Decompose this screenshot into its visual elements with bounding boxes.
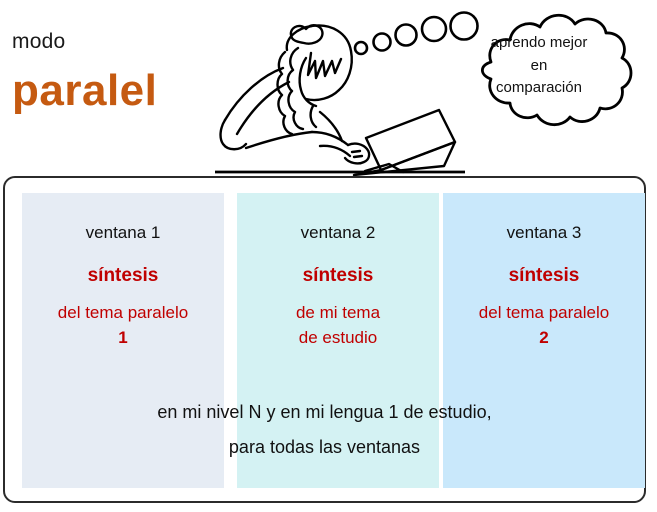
- window-column-1-desc-line-2: 1: [28, 326, 218, 351]
- window-column-2: ventana 2 síntesis de mi tema de estudio: [237, 193, 439, 488]
- page-title-small: modo: [12, 30, 65, 54]
- window-column-1: ventana 1 síntesis del tema paralelo 1: [22, 193, 224, 488]
- window-column-2-desc-line-2: de estudio: [243, 326, 433, 351]
- thought-bubble-line-1: aprendo mejor: [464, 32, 614, 55]
- thought-bubble-text: aprendo mejor en comparación: [464, 32, 614, 100]
- thought-bubble-line-3: comparación: [464, 77, 614, 100]
- window-column-1-title: ventana 1: [22, 223, 224, 243]
- window-column-2-description: de mi tema de estudio: [237, 301, 439, 350]
- window-column-1-sintesis: síntesis: [22, 265, 224, 287]
- window-column-1-desc-line-1: del tema paralelo: [58, 303, 188, 322]
- header-area: modo paralel: [0, 0, 657, 176]
- window-column-1-description: del tema paralelo 1: [22, 301, 224, 350]
- window-column-2-sintesis: síntesis: [237, 265, 439, 287]
- thought-bubble-line-2: en: [464, 55, 614, 78]
- window-column-3-sintesis: síntesis: [443, 265, 645, 287]
- parallel-mode-frame: ventana 1 síntesis del tema paralelo 1 v…: [3, 176, 646, 503]
- page-title-large: paralel: [12, 66, 157, 116]
- window-column-3-desc-line-2: 2: [449, 326, 639, 351]
- window-column-3-desc-line-1: del tema paralelo: [479, 303, 609, 322]
- window-column-3-title: ventana 3: [443, 223, 645, 243]
- window-column-2-title: ventana 2: [237, 223, 439, 243]
- window-column-2-desc-line-1: de mi tema: [296, 303, 380, 322]
- window-column-3: ventana 3 síntesis del tema paralelo 2: [443, 193, 645, 488]
- window-column-3-description: del tema paralelo 2: [443, 301, 645, 350]
